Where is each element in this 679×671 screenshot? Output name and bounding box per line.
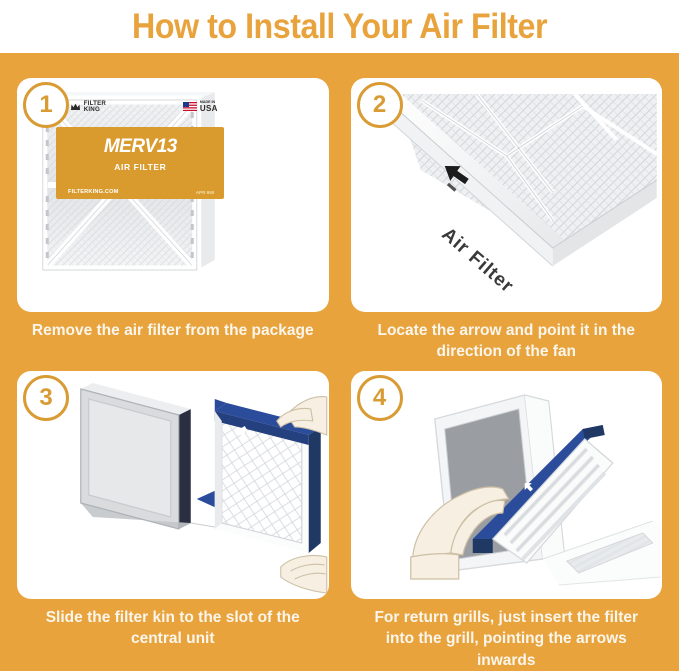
step-card-1: FILTER KING: [17, 78, 329, 312]
apr-rating: APR 650: [196, 190, 215, 195]
step-card-4: 4: [351, 371, 663, 599]
step-caption-4: For return grills, just insert the filte…: [351, 599, 663, 671]
step-badge-2: 2: [357, 82, 403, 128]
step-badge-3: 3: [23, 375, 69, 421]
step-caption-wrap-2: Locate the arrow and point it in the dir…: [351, 312, 663, 363]
step-badge-4: 4: [357, 375, 403, 421]
step-caption-3: Slide the filter kin to the slot of the …: [17, 599, 329, 650]
brand-line-2: KING: [84, 107, 106, 113]
step-caption-wrap-1: Remove the air filter from the package: [17, 312, 329, 341]
merv-rating: MERV13: [56, 136, 224, 158]
hand-lower: [281, 555, 327, 593]
steps-grid: FILTER KING: [0, 53, 679, 657]
step-badge-1: 1: [23, 82, 69, 128]
filter-king-crown-icon: [70, 102, 81, 112]
step-cell-3: 3 Slide the filter kin to the slot of th…: [17, 371, 329, 599]
step-cell-4: 4 For return grills, just insert the fil…: [351, 371, 663, 599]
step-caption-wrap-4: For return grills, just insert the filte…: [351, 599, 663, 671]
step-caption-1: Remove the air filter from the package: [17, 312, 329, 341]
step-card-2: Air Filter 2: [351, 78, 663, 312]
merv-label-box: MERV13 AIR FILTER FILTERKING.COM APR 650: [56, 127, 224, 199]
filter-website: FILTERKING.COM: [68, 189, 119, 195]
step-cell-2: Air Filter 2 Locate the arrow and point …: [351, 78, 663, 312]
page-title: How to Install Your Air Filter: [132, 7, 547, 47]
product-label: FILTER KING: [56, 100, 224, 203]
step-card-3: 3: [17, 371, 329, 599]
step-caption-wrap-3: Slide the filter kin to the slot of the …: [17, 599, 329, 650]
steps-row-1: FILTER KING: [17, 78, 662, 312]
step-caption-2: Locate the arrow and point it in the dir…: [351, 312, 663, 363]
steps-row-2: 3 Slide the filter kin to the slot of th…: [17, 371, 662, 599]
title-bar: How to Install Your Air Filter: [0, 0, 679, 53]
usa-flag-icon: [183, 102, 197, 111]
step-cell-1: FILTER KING: [17, 78, 329, 312]
central-unit: [81, 383, 191, 529]
merv-subtitle: AIR FILTER: [56, 162, 224, 172]
usa-text: USA: [200, 105, 218, 112]
